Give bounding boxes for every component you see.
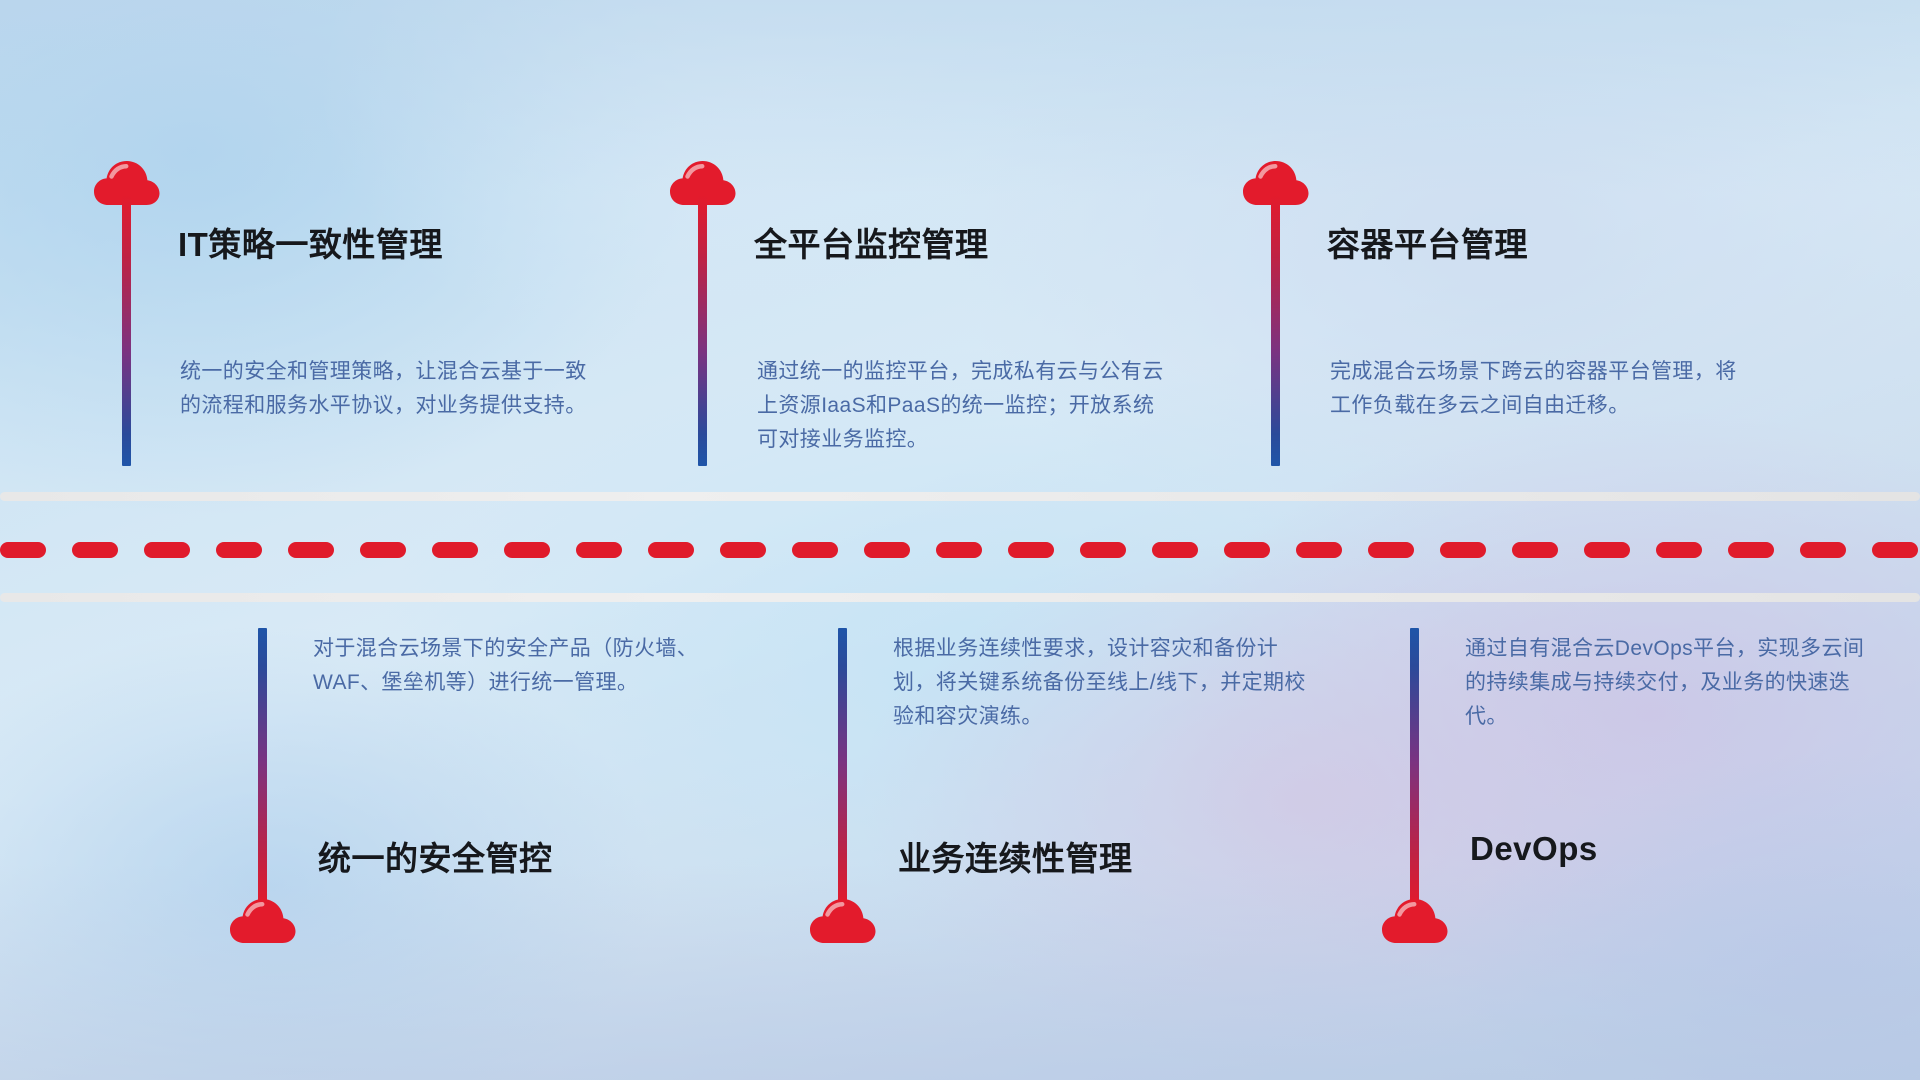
road-dash — [432, 542, 478, 558]
road-dash — [1224, 542, 1270, 558]
feature-title: DevOps — [1470, 830, 1598, 868]
road-dash — [216, 542, 262, 558]
feature-title: 全平台监控管理 — [754, 218, 989, 266]
feature-pin-line — [1271, 196, 1280, 466]
feature-pin-line — [122, 196, 131, 466]
road-dash — [1008, 542, 1054, 558]
road-dash-line — [0, 542, 1920, 558]
feature-title: 容器平台管理 — [1327, 218, 1528, 266]
road-edge-top — [0, 492, 1920, 501]
cloud-icon — [230, 898, 296, 944]
feature-pin-line — [698, 196, 707, 466]
feature-title: 业务连续性管理 — [898, 832, 1133, 880]
road-dash — [1656, 542, 1702, 558]
road-dash — [360, 542, 406, 558]
road-dash — [720, 542, 766, 558]
road-dash — [1512, 542, 1558, 558]
road-dash — [0, 542, 46, 558]
road-dash — [1728, 542, 1774, 558]
road-dash — [1872, 542, 1918, 558]
road-edge-bottom — [0, 593, 1920, 602]
feature-pin-line — [1410, 628, 1419, 906]
feature-description: 根据业务连续性要求，设计容灾和备份计划，将关键系统备份至线上/线下，并定期校验和… — [893, 632, 1313, 734]
road-dash — [288, 542, 334, 558]
road-dash — [792, 542, 838, 558]
road-dash — [1152, 542, 1198, 558]
road-dash — [864, 542, 910, 558]
road-dash — [1296, 542, 1342, 558]
road-dash — [936, 542, 982, 558]
road-dash — [1440, 542, 1486, 558]
feature-description: 对于混合云场景下的安全产品（防火墙、WAF、堡垒机等）进行统一管理。 — [313, 632, 733, 700]
feature-title: 统一的安全管控 — [318, 832, 553, 880]
feature-description: 统一的安全和管理策略，让混合云基于一致的流程和服务水平协议，对业务提供支持。 — [180, 355, 592, 423]
feature-description: 通过统一的监控平台，完成私有云与公有云上资源IaaS和PaaS的统一监控；开放系… — [757, 355, 1169, 457]
road-dash — [1080, 542, 1126, 558]
cloud-icon — [810, 898, 876, 944]
feature-description: 完成混合云场景下跨云的容器平台管理，将工作负载在多云之间自由迁移。 — [1330, 355, 1742, 423]
road-dash — [1368, 542, 1414, 558]
feature-description: 通过自有混合云DevOps平台，实现多云间的持续集成与持续交付，及业务的快速迭代… — [1465, 632, 1885, 734]
road-dash — [1800, 542, 1846, 558]
road-dash — [1584, 542, 1630, 558]
feature-pin-line — [838, 628, 847, 906]
road-dash — [144, 542, 190, 558]
road-dash — [72, 542, 118, 558]
cloud-icon — [1382, 898, 1448, 944]
road-dash — [648, 542, 694, 558]
road-dash — [504, 542, 550, 558]
road-dash — [576, 542, 622, 558]
feature-pin-line — [258, 628, 267, 906]
feature-title: IT策略一致性管理 — [178, 218, 443, 266]
